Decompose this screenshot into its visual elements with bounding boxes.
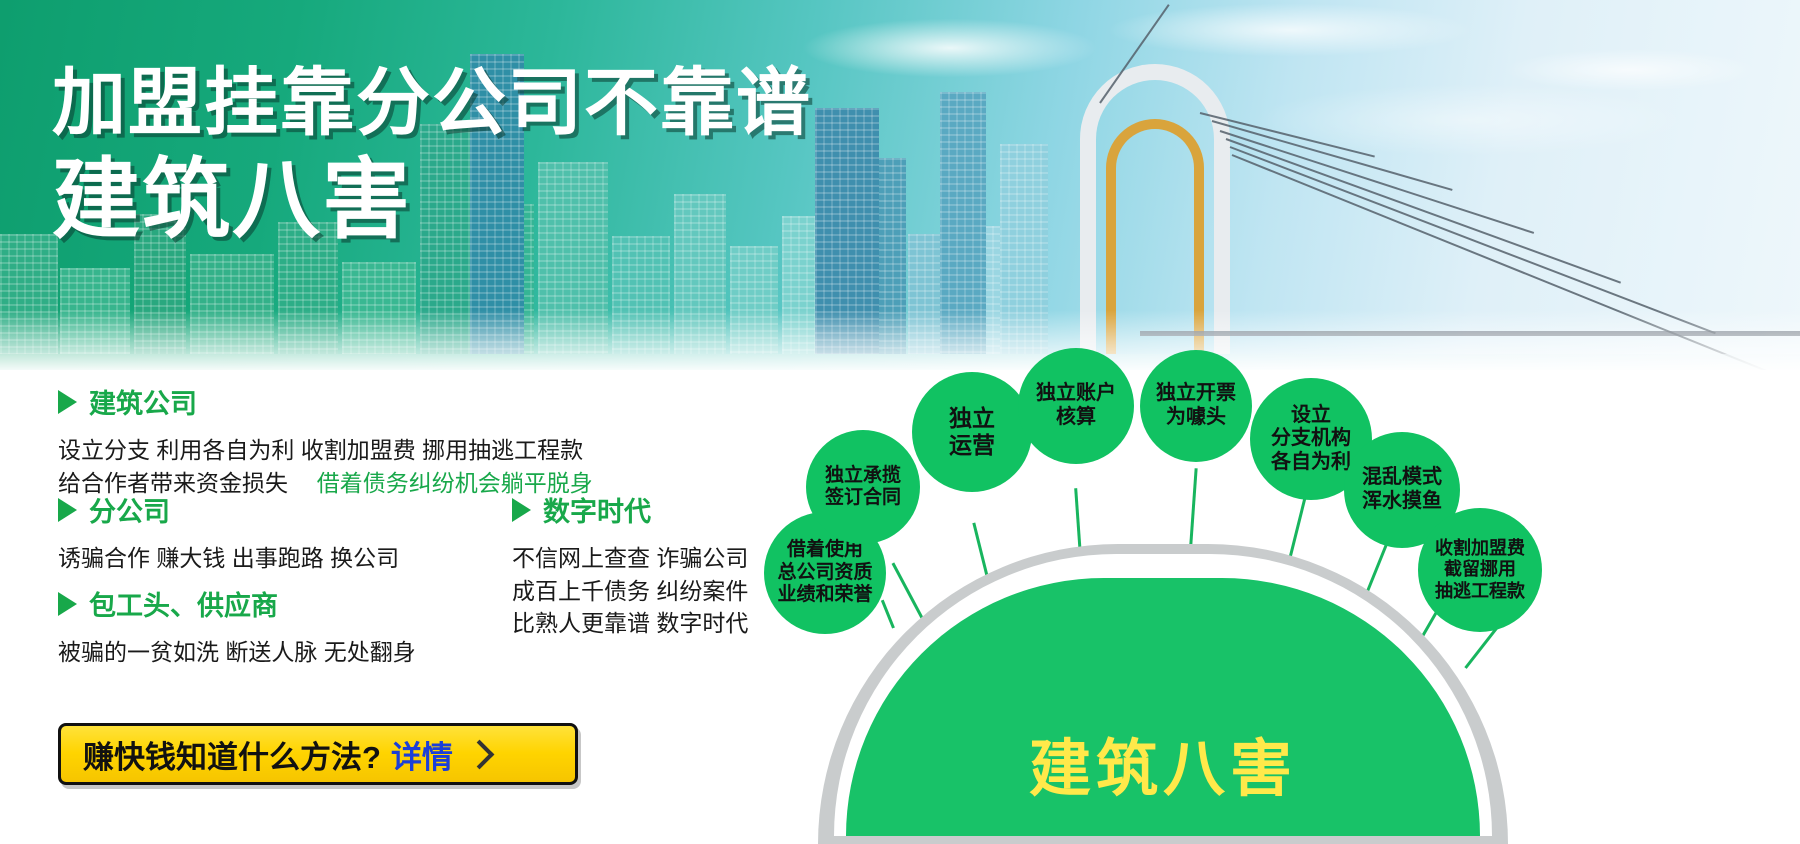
bubble-line: 收割加盟费: [1431, 538, 1529, 559]
triangle-bullet-icon: [58, 592, 77, 616]
headline-line-1: 加盟挂靠分公司不靠谱: [52, 62, 812, 145]
bubble-line: 抽逃工程款: [1431, 581, 1529, 602]
headline-line-2: 建筑八害: [52, 151, 812, 250]
cta-button[interactable]: 赚快钱知道什么方法? 详情: [58, 723, 578, 785]
cta-main-text: 赚快钱知道什么方法?: [83, 732, 381, 777]
bridge-cable: [1230, 146, 1716, 334]
bubble-line: 独立开票: [1152, 382, 1240, 406]
bubble-text: 设立 分支机构 各自为利: [1267, 404, 1355, 475]
bridge-cable: [1220, 130, 1534, 234]
triangle-bullet-icon: [58, 498, 77, 522]
bubble-line: 业绩和荣誉: [773, 584, 876, 606]
bubble-text: 独立承揽 签订合同: [821, 465, 905, 510]
section-title: 建筑公司: [89, 382, 197, 421]
section-construction-company: 建筑公司 设立分支 利用各自为利 收割加盟费 挪用抽逃工程款 给合作者带来资金损…: [58, 382, 593, 499]
body-line: 成百上千债务 纠纷案件: [512, 575, 748, 608]
headline-block: 加盟挂靠分公司不靠谱 建筑八害: [52, 62, 812, 249]
bubble-line: 独立承揽: [821, 465, 905, 487]
poster-canvas: 加盟挂靠分公司不靠谱 建筑八害 建筑公司 设立分支 利用各自为利 收割加盟费 挪…: [0, 0, 1800, 844]
hero-banner: 加盟挂靠分公司不靠谱 建筑八害: [0, 0, 1800, 370]
section-body: 诱骗合作 赚大钱 出事跑路 换公司: [58, 542, 399, 575]
bubble-line: 截留挪用: [1431, 559, 1529, 580]
section-heading: 数字时代: [512, 490, 748, 529]
triangle-bullet-icon: [512, 498, 531, 522]
bubble-text: 借着使用 总公司资质 业绩和荣誉: [773, 539, 876, 606]
section-heading: 包工头、供应商: [58, 584, 416, 623]
body-line: 不信网上查查 诈骗公司: [512, 542, 748, 575]
section-body: 被骗的一贫如洗 断送人脉 无处翻身: [58, 636, 416, 669]
body-line: 比熟人更靠谱 数字时代: [512, 607, 748, 640]
bubble-line: 浑水摸鱼: [1358, 490, 1446, 514]
bubble-item[interactable]: 独立 运营: [912, 372, 1032, 492]
chevron-right-icon: [465, 739, 495, 769]
cta-link-text[interactable]: 详情: [391, 732, 453, 777]
bubble-stem: [881, 600, 895, 629]
bubble-item[interactable]: 独立开票 为噱头: [1140, 350, 1252, 462]
bubble-item[interactable]: 独立账户 核算: [1018, 348, 1134, 464]
section-branch-company: 分公司 诱骗合作 赚大钱 出事跑路 换公司: [58, 490, 399, 575]
bubble-text: 收割加盟费 截留挪用 抽逃工程款: [1431, 538, 1529, 602]
bubble-text: 独立账户 核算: [1032, 382, 1120, 429]
bubble-line: 总公司资质: [773, 562, 876, 584]
bridge-illustration: [1080, 54, 1800, 354]
dome-title: 建筑八害: [846, 718, 1480, 808]
bubble-line: 独立: [945, 405, 999, 432]
bubble-line: 设立: [1267, 404, 1355, 428]
bubble-item[interactable]: 独立承揽 签订合同: [806, 430, 920, 544]
body-line: 诱骗合作 赚大钱 出事跑路 换公司: [58, 542, 399, 575]
section-heading: 分公司: [58, 490, 399, 529]
bridge-cable: [1212, 120, 1453, 191]
section-title: 分公司: [89, 490, 170, 529]
bridge-cable: [1226, 138, 1621, 284]
section-contractor-supplier: 包工头、供应商 被骗的一贫如洗 断送人脉 无处翻身: [58, 584, 416, 669]
left-content-column: 建筑公司 设立分支 利用各自为利 收割加盟费 挪用抽逃工程款 给合作者带来资金损…: [0, 378, 800, 844]
section-title: 包工头、供应商: [89, 584, 278, 623]
bubble-text: 混乱模式 浑水摸鱼: [1358, 466, 1446, 513]
section-title: 数字时代: [543, 490, 651, 529]
bubble-line: 为噱头: [1152, 406, 1240, 430]
body-line: 被骗的一贫如洗 断送人脉 无处翻身: [58, 636, 416, 669]
body-line: 设立分支 利用各自为利 收割加盟费 挪用抽逃工程款: [58, 434, 593, 467]
bubble-item[interactable]: 收割加盟费 截留挪用 抽逃工程款: [1418, 508, 1542, 632]
triangle-bullet-icon: [58, 390, 77, 414]
bubble-line: 分支机构: [1267, 427, 1355, 451]
section-digital-era: 数字时代 不信网上查查 诈骗公司 成百上千债务 纠纷案件 比熟人更靠谱 数字时代: [512, 490, 748, 640]
dome-diagram: 建筑八害 借着使用 总公司资质 业绩和荣誉 独立承揽 签订合同 独立 运营 独立…: [800, 330, 1800, 844]
bubble-line: 各自为利: [1267, 451, 1355, 475]
bubble-line: 独立账户: [1032, 382, 1120, 406]
bubble-line: 签订合同: [821, 487, 905, 509]
bubble-line: 混乱模式: [1358, 466, 1446, 490]
bubble-text: 独立 运营: [945, 405, 999, 459]
section-body: 不信网上查查 诈骗公司 成百上千债务 纠纷案件 比熟人更靠谱 数字时代: [512, 542, 748, 640]
bubble-text: 独立开票 为噱头: [1152, 382, 1240, 429]
bubble-line: 运营: [945, 432, 999, 459]
section-heading: 建筑公司: [58, 382, 593, 421]
bubble-line: 核算: [1032, 406, 1120, 430]
